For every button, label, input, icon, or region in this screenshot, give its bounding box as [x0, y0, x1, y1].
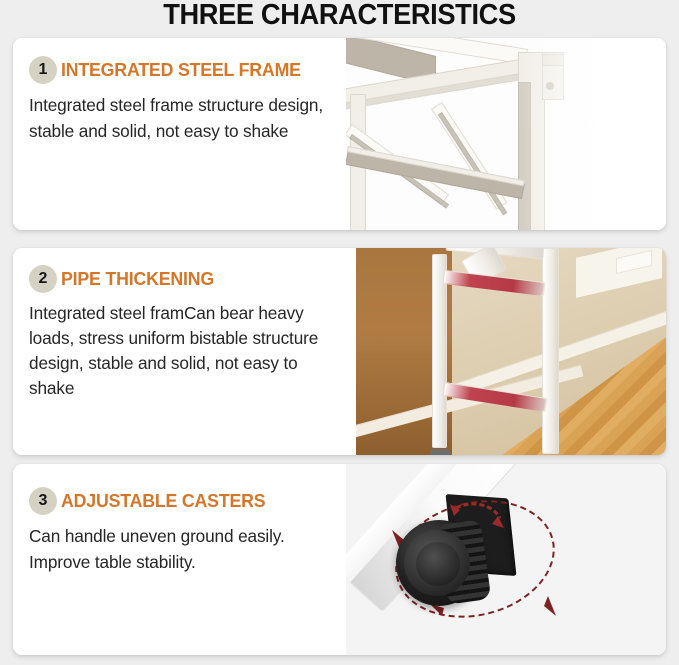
card-3-body: Can handle uneven ground easily. Improve… — [29, 524, 327, 575]
card-2-number-badge: 2 — [29, 265, 57, 293]
pipe-thickening-illustration — [346, 248, 666, 455]
page-title: THREE CHARACTERISTICS — [20, 0, 658, 32]
characteristic-card-1: 1 INTEGRATED STEEL FRAME Integrated stee… — [13, 38, 666, 230]
card-3-text-pane: 3 ADJUSTABLE CASTERS Can handle uneven g… — [13, 464, 346, 655]
card-1-body: Integrated steel frame structure design,… — [29, 93, 327, 144]
card-3-heading-row: 3 ADJUSTABLE CASTERS — [29, 487, 332, 515]
card-2-heading-row: 2 PIPE THICKENING — [29, 265, 332, 293]
card-3-number-badge: 3 — [29, 487, 57, 515]
card-2-heading: PIPE THICKENING — [61, 268, 214, 290]
card-2-text-pane: 2 PIPE THICKENING Integrated steel framC… — [13, 248, 346, 455]
steel-frame-illustration — [346, 38, 666, 230]
adjustable-caster-photo — [346, 464, 666, 655]
card-1-text-pane: 1 INTEGRATED STEEL FRAME Integrated stee… — [13, 38, 346, 230]
card-2-body: Integrated steel framCan bear heavy load… — [29, 301, 327, 401]
card-1-heading-row: 1 INTEGRATED STEEL FRAME — [29, 56, 332, 84]
characteristic-card-2: 2 PIPE THICKENING Integrated steel framC… — [13, 248, 666, 455]
card-1-number-badge: 1 — [29, 56, 57, 84]
card-1-heading: INTEGRATED STEEL FRAME — [61, 59, 301, 81]
steel-frame-photo — [346, 38, 666, 230]
infographic-page: THREE CHARACTERISTICS — [0, 0, 679, 665]
adjustable-caster-illustration — [346, 464, 666, 655]
card-3-heading: ADJUSTABLE CASTERS — [61, 490, 265, 512]
pipe-thickening-photo — [346, 248, 666, 455]
characteristic-card-3: 3 ADJUSTABLE CASTERS Can handle uneven g… — [13, 464, 666, 655]
